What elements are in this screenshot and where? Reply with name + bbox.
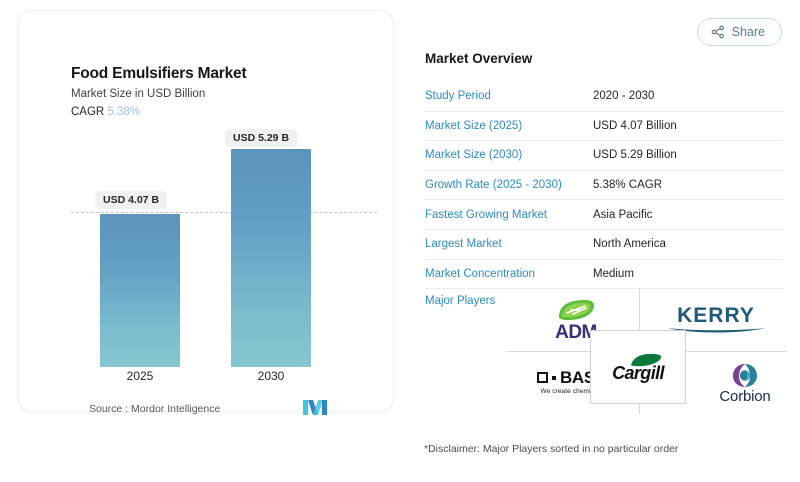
basf-square-icon: [537, 372, 548, 383]
reference-line: [71, 212, 377, 213]
table-row: Growth Rate (2025 - 2030) 5.38% CAGR: [425, 171, 783, 201]
corbion-swirl-icon: [732, 363, 758, 388]
row-label: Study Period: [425, 90, 593, 102]
logo-cargill: Cargill: [590, 330, 686, 404]
table-row: Study Period 2020 - 2030: [425, 82, 783, 112]
source-text: Source : Mordor Intelligence: [89, 403, 220, 415]
bar-value-label-2025: USD 4.07 B: [95, 191, 167, 209]
x-axis-tick-2030: 2030: [231, 369, 311, 383]
adm-leaf-icon: [555, 298, 597, 322]
table-row: Fastest Growing Market Asia Pacific: [425, 200, 783, 230]
table-row: Largest Market North America: [425, 230, 783, 260]
row-label: Market Concentration: [425, 268, 593, 280]
x-axis-tick-2025: 2025: [100, 369, 180, 383]
row-label: Growth Rate (2025 - 2030): [425, 179, 593, 191]
table-row: Market Size (2025) USD 4.07 Billion: [425, 112, 783, 142]
kerry-wordmark: KERRY: [677, 305, 755, 326]
table-row: Market Size (2030) USD 5.29 Billion: [425, 141, 783, 171]
chart-cagr: CAGR 5.38%: [71, 106, 140, 118]
bar-2030[interactable]: [231, 149, 311, 367]
logo-corbion: Corbion: [702, 354, 788, 412]
chart-title: Food Emulsifiers Market: [71, 65, 246, 83]
market-snapshot-page: Food Emulsifiers Market Market Size in U…: [0, 0, 800, 482]
row-value: Asia Pacific: [593, 209, 652, 221]
row-value: Medium: [593, 268, 634, 280]
cagr-label: CAGR: [71, 106, 104, 118]
row-value: USD 5.29 Billion: [593, 149, 677, 161]
row-label: Market Size (2025): [425, 120, 593, 132]
row-value: 5.38% CAGR: [593, 179, 662, 191]
disclaimer-text: *Disclaimer: Major Players sorted in no …: [424, 443, 678, 455]
table-row: Market Concentration Medium: [425, 260, 783, 290]
basf-dot-icon: [552, 376, 556, 380]
mordor-intelligence-logo-icon: [302, 399, 328, 416]
row-label: Market Size (2030): [425, 149, 593, 161]
row-value: USD 4.07 Billion: [593, 120, 677, 132]
share-nodes-icon: [711, 25, 725, 39]
row-value: North America: [593, 238, 666, 250]
market-overview-title: Market Overview: [425, 51, 532, 66]
row-value: 2020 - 2030: [593, 90, 654, 102]
chart-card: Food Emulsifiers Market Market Size in U…: [18, 10, 394, 412]
row-label: Largest Market: [425, 238, 593, 250]
market-overview-table: Study Period 2020 - 2030 Market Size (20…: [425, 82, 783, 319]
chart-subtitle: Market Size in USD Billion: [71, 88, 205, 100]
bar-2025[interactable]: [100, 214, 180, 367]
corbion-wordmark: Corbion: [719, 389, 770, 404]
cagr-value: 5.38%: [107, 106, 140, 118]
share-button-label: Share: [732, 25, 765, 39]
major-players-logo-grid: ADM KERRY BASF We create chemistry: [506, 288, 787, 414]
row-label: Fastest Growing Market: [425, 209, 593, 221]
source-name: Mordor Intelligence: [131, 403, 220, 415]
cargill-wordmark: Cargill: [612, 364, 664, 382]
share-button[interactable]: Share: [697, 18, 782, 46]
bar-chart-plot: USD 4.07 B 2025 USD 5.29 B 2030: [19, 129, 393, 369]
bar-value-label-2030: USD 5.29 B: [225, 129, 297, 147]
source-label: Source :: [89, 403, 128, 415]
